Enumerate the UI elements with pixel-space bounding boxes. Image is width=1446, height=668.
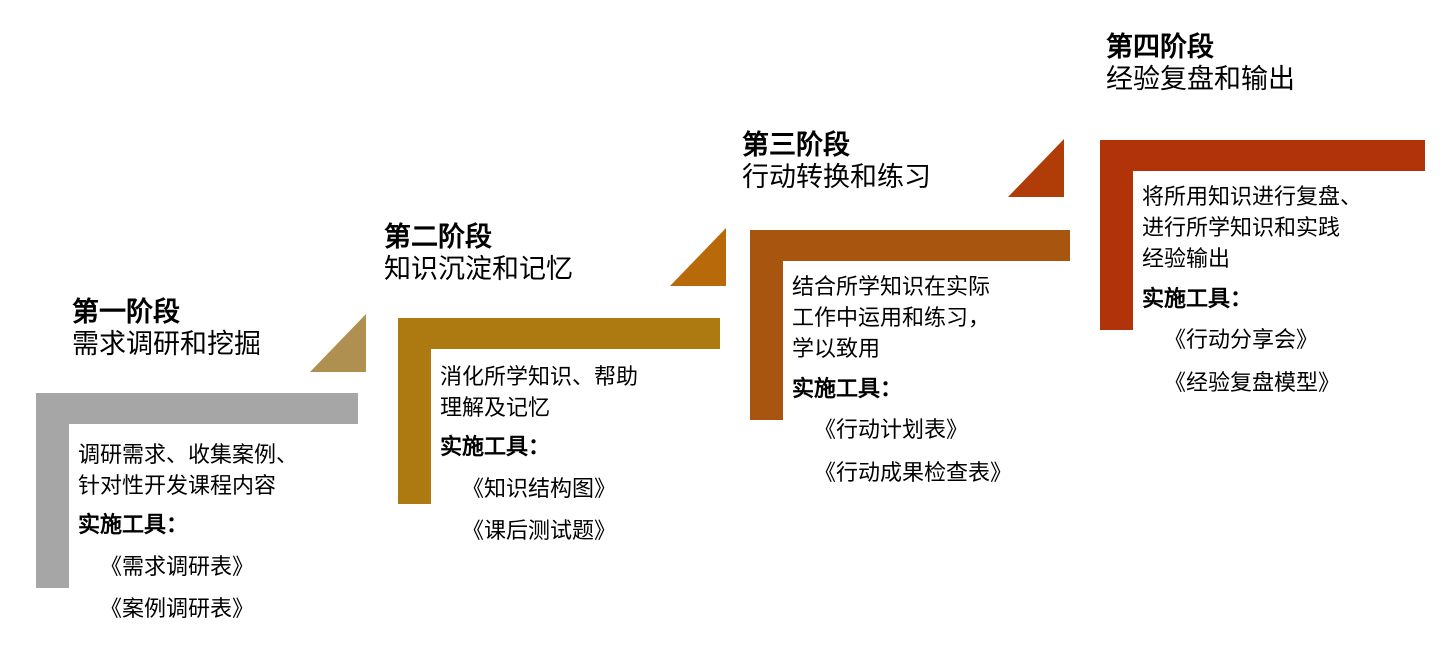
stage-4-heading-line2: 经验复盘和输出 — [1106, 64, 1295, 96]
stage-4-description-line-2: 进行所学知识和实践 — [1142, 213, 1362, 244]
stage-4-description-line-1: 将所用知识进行复盘、 — [1142, 182, 1362, 213]
stage-4-description-line-3: 经验输出 — [1142, 244, 1362, 275]
stage-4-bracket-left-bar — [1100, 140, 1133, 330]
stage-4-tool-item: 《经验复盘模型》 — [1142, 363, 1362, 405]
stage-4-group: 第四阶段 经验复盘和输出 将所用知识进行复盘、 进行所学知识和实践 经验输出 实… — [0, 0, 1446, 668]
stage-4-tool-item: 《行动分享会》 — [1142, 320, 1362, 362]
stage-4-tools-list: 《行动分享会》 《经验复盘模型》 — [1142, 320, 1362, 404]
stage-4-description: 将所用知识进行复盘、 进行所学知识和实践 经验输出 — [1142, 182, 1362, 276]
stage-4-tools-label: 实施工具： — [1142, 286, 1362, 315]
stage-4-heading: 第四阶段 经验复盘和输出 — [1106, 32, 1295, 96]
stage-4-heading-line1: 第四阶段 — [1106, 32, 1295, 64]
stage-4-body: 将所用知识进行复盘、 进行所学知识和实践 经验输出 实施工具： 《行动分享会》 … — [1142, 182, 1362, 405]
four-stage-process-diagram: { "diagram": { "type": "staircase-proces… — [0, 0, 1446, 668]
stage-4-bracket-top-bar — [1100, 140, 1425, 171]
